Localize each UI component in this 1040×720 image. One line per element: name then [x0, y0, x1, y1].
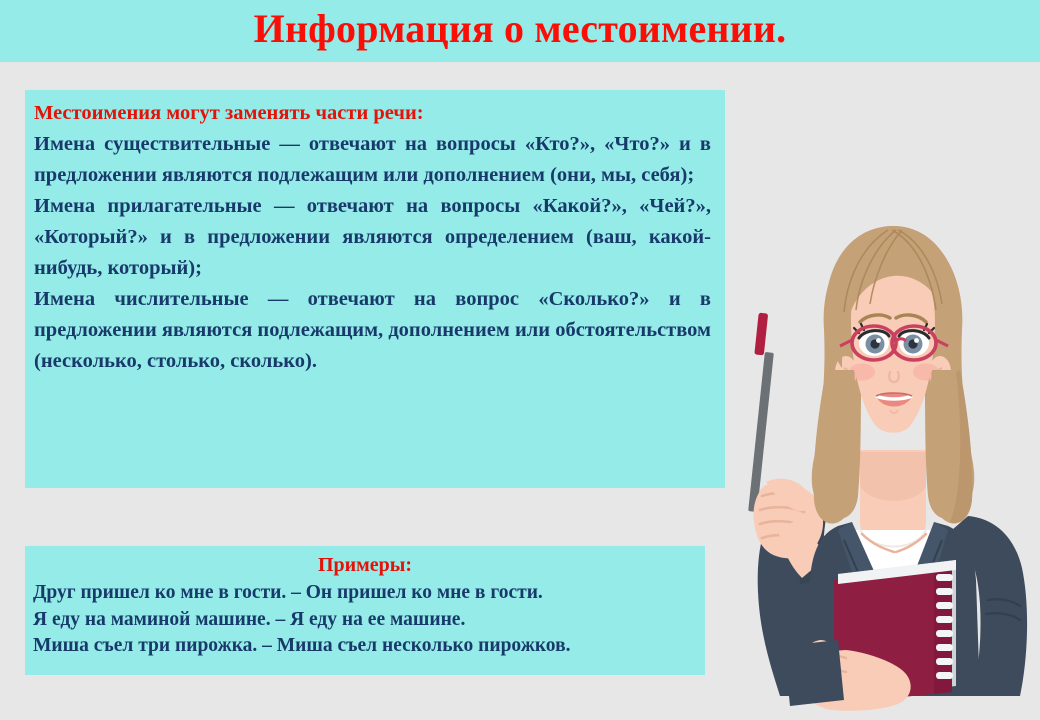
- info-paragraph-adjectives: Имена прилагательные — отвечают на вопро…: [34, 191, 711, 284]
- example-line-1: Друг пришел ко мне в гости. – Он пришел …: [33, 580, 697, 607]
- info-lead-text: Местоимения могут заменять части речи:: [34, 98, 711, 129]
- examples-title: Примеры:: [33, 552, 697, 579]
- page-title: Информация о местоимении.: [0, 0, 1040, 62]
- info-panel: Местоимения могут заменять части речи: И…: [25, 90, 725, 488]
- hair-side-left: [814, 370, 857, 524]
- examples-panel: Примеры: Друг пришел ко мне в гости. – О…: [25, 546, 705, 675]
- example-line-3: Миша съел три пирожка. – Миша съел неско…: [33, 633, 697, 660]
- header-band: Информация о местоимении.: [0, 0, 1040, 62]
- example-line-2: Я еду на маминой машине. – Я еду на ее м…: [33, 607, 697, 634]
- info-paragraph-numerals: Имена числительные — отвечают на вопрос …: [34, 284, 711, 377]
- right-cuff: [784, 640, 844, 706]
- teacher-illustration: [720, 200, 1040, 720]
- info-paragraph-nouns: Имена существительные — отвечают на вопр…: [34, 129, 711, 191]
